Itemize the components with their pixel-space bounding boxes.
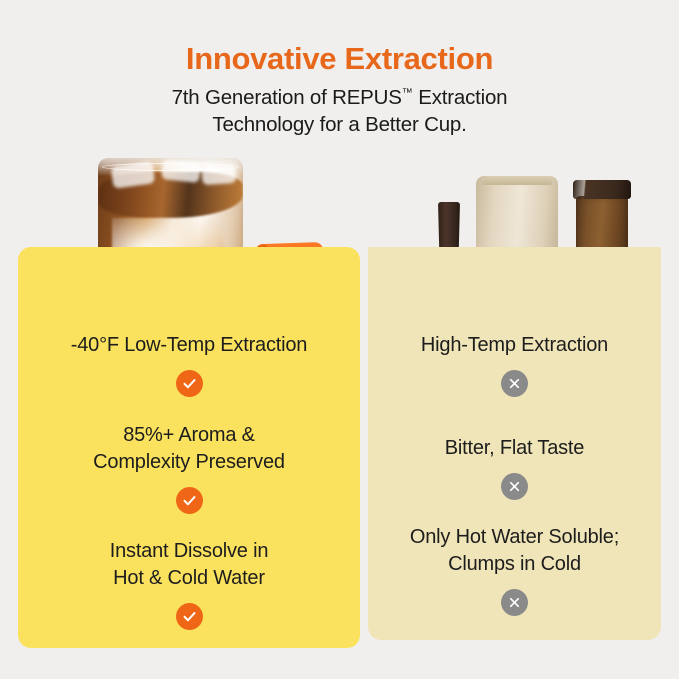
check-icon (176, 370, 203, 397)
cross-icon (501, 589, 528, 616)
feature-label: -40°F Low-Temp Extraction (18, 332, 360, 359)
check-icon (176, 487, 203, 514)
check-icon (176, 603, 203, 630)
feature-row: Instant Dissolve in Hot & Cold Water (18, 538, 360, 630)
feature-label: 85%+ Aroma & Complexity Preserved (18, 422, 360, 476)
feature-label: High-Temp Extraction (368, 332, 661, 359)
feature-row: 85%+ Aroma & Complexity Preserved (18, 422, 360, 514)
header: Innovative Extraction 7th Generation of … (0, 42, 679, 139)
subtitle-line1-tail: Extraction (413, 86, 508, 109)
feature-row: High-Temp Extraction (368, 332, 661, 397)
conventional-extraction-panel: High-Temp Extraction Bitter, Flat Taste … (368, 247, 661, 640)
feature-label: Bitter, Flat Taste (368, 435, 661, 462)
repus-extraction-panel: -40°F Low-Temp Extraction 85%+ Aroma & C… (18, 247, 360, 648)
subtitle-line1-lead: 7th Generation of REPUS (172, 86, 402, 109)
page-title: Innovative Extraction (0, 42, 679, 76)
feature-label: Only Hot Water Soluble; Clumps in Cold (368, 524, 661, 578)
feature-row: Bitter, Flat Taste (368, 435, 661, 500)
jar-lid (573, 180, 631, 199)
infographic-root: Innovative Extraction 7th Generation of … (0, 0, 679, 679)
trademark-symbol: ™ (402, 87, 413, 99)
cross-icon (501, 370, 528, 397)
page-subtitle: 7th Generation of REPUS™ ExtractionTechn… (0, 84, 679, 139)
feature-row: Only Hot Water Soluble; Clumps in Cold (368, 524, 661, 616)
glass-rim (102, 163, 239, 171)
conventional-feature-list: High-Temp Extraction Bitter, Flat Taste … (368, 247, 661, 616)
cross-icon (501, 473, 528, 500)
subtitle-line2: Technology for a Better Cup. (212, 113, 466, 136)
repus-feature-list: -40°F Low-Temp Extraction 85%+ Aroma & C… (18, 247, 360, 630)
feature-row: -40°F Low-Temp Extraction (18, 332, 360, 397)
feature-label: Instant Dissolve in Hot & Cold Water (18, 538, 360, 592)
